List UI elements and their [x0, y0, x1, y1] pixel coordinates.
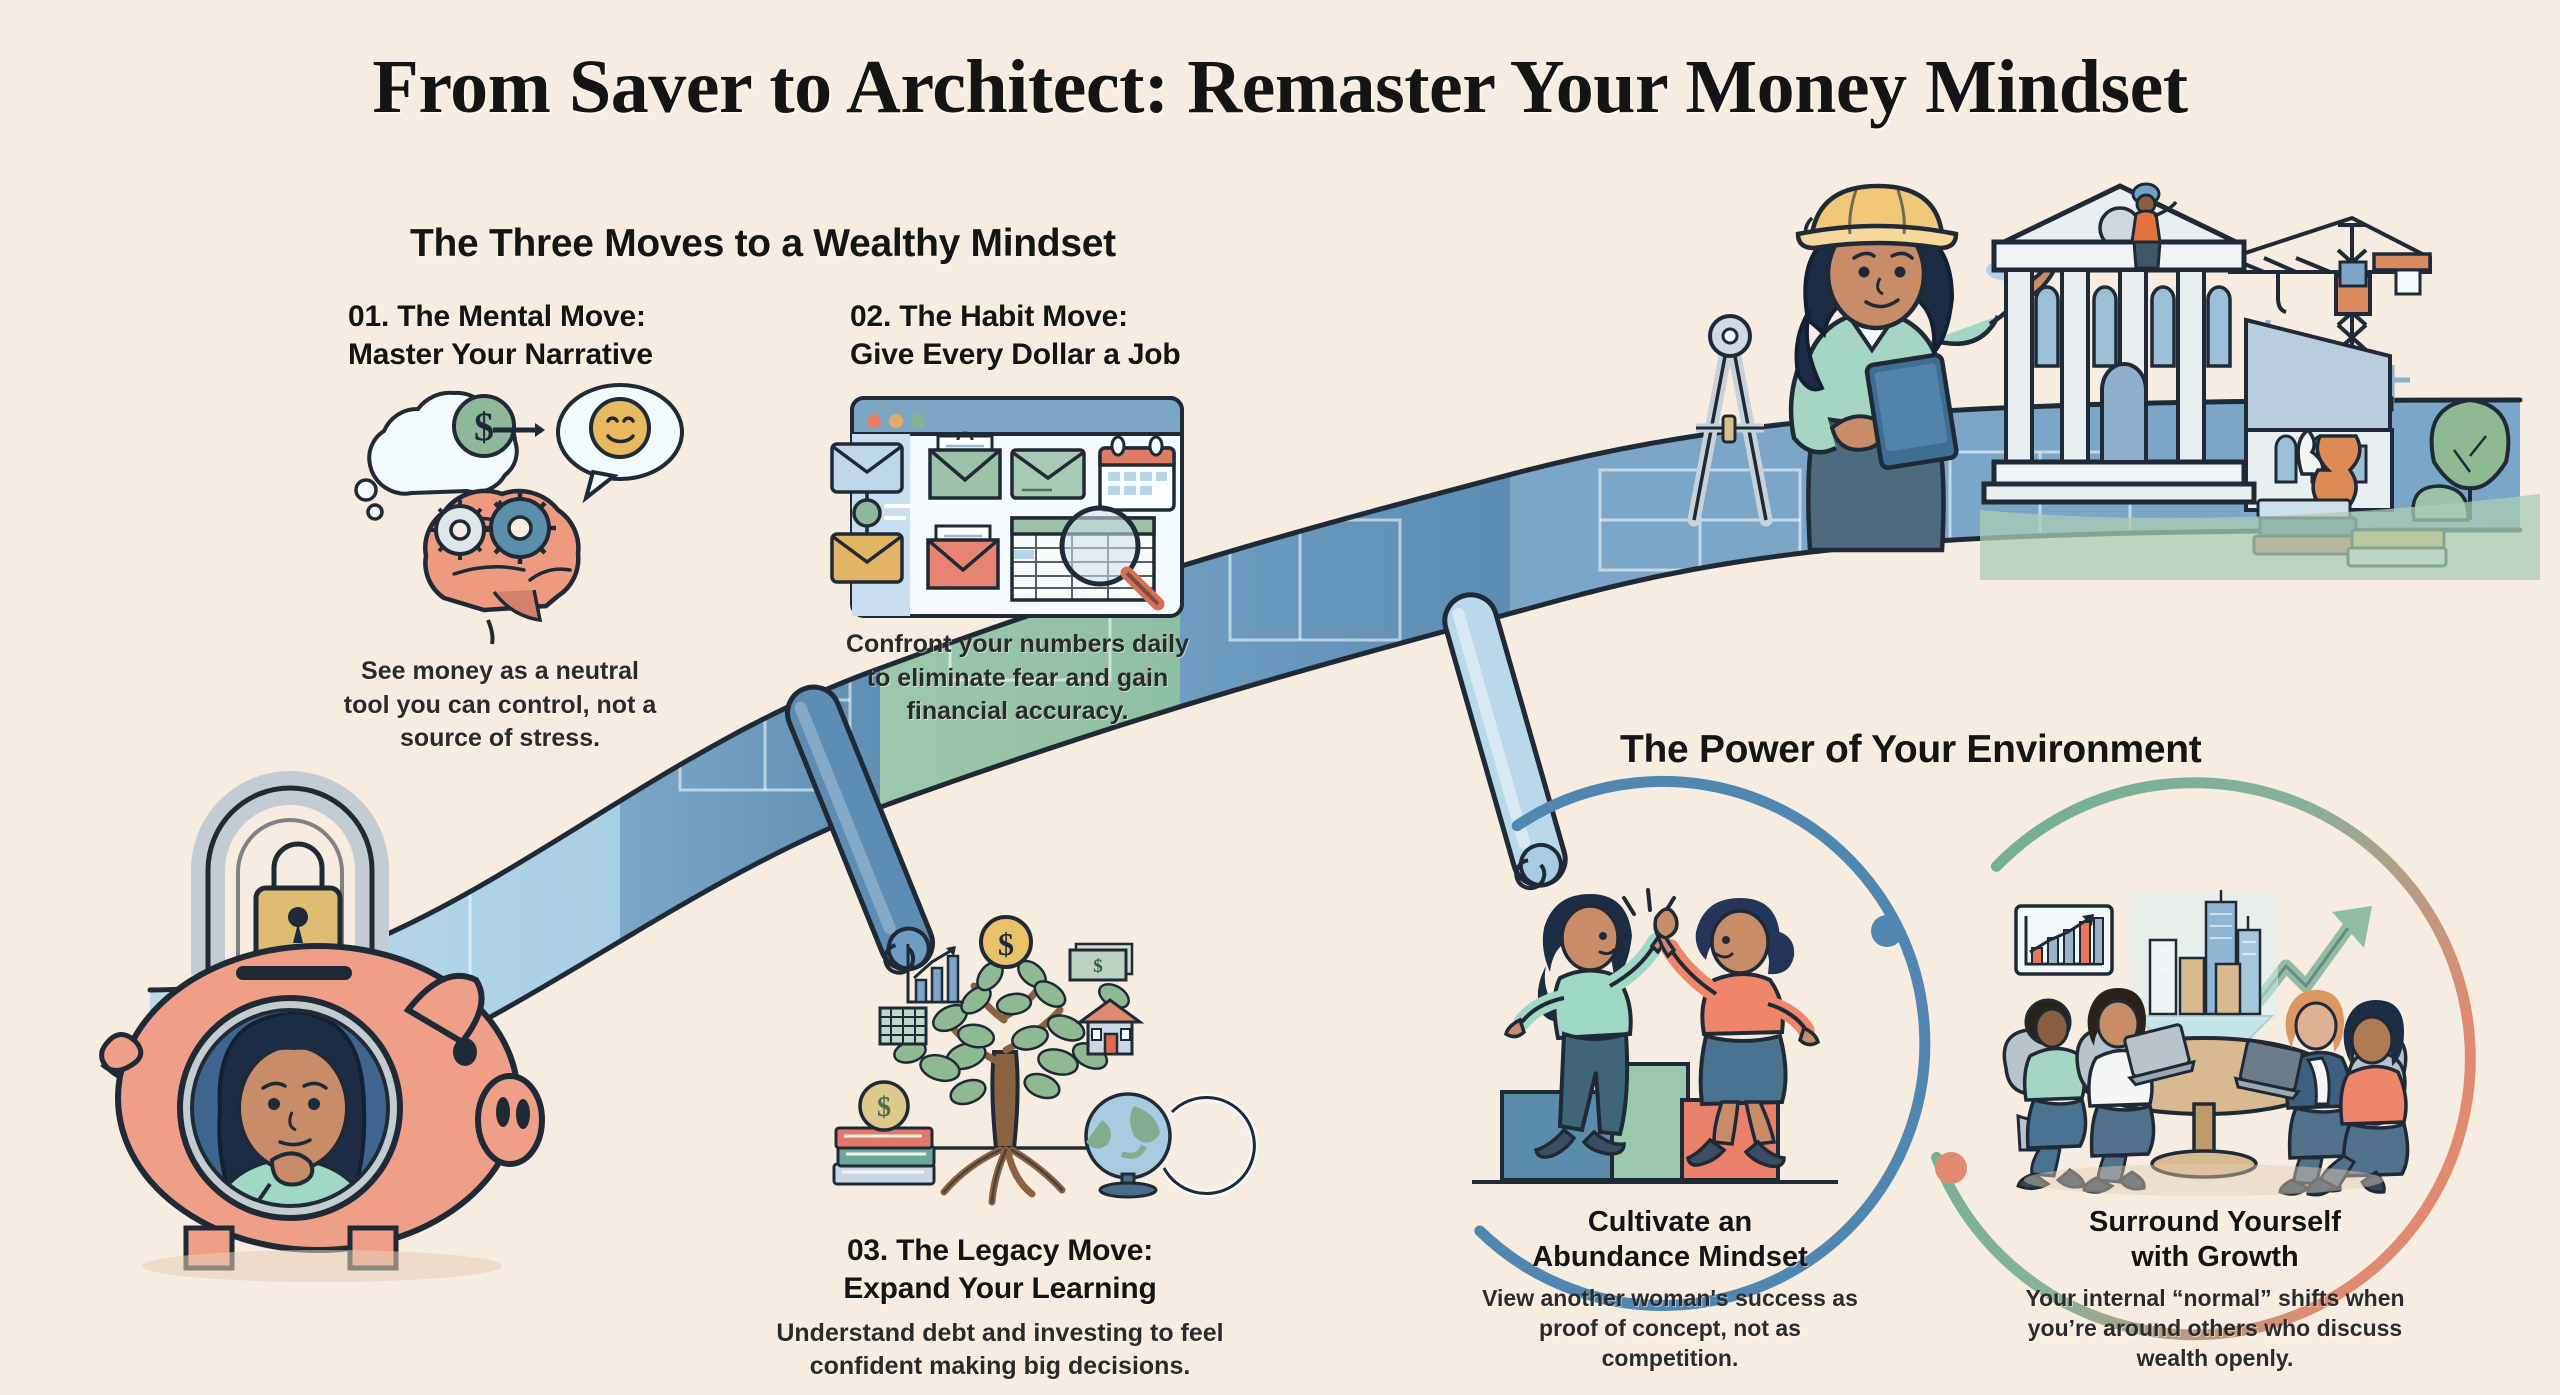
move-card-02: 02. The Habit Move: Give Every Dollar a … — [850, 298, 1230, 375]
move-card-01-body: See money as a neutral tool you can cont… — [335, 655, 665, 756]
circle-1-title-line1: Cultivate an — [1475, 1205, 1865, 1240]
svg-text:$: $ — [877, 1092, 891, 1123]
circle-2-body: Your internal “normal” shifts when you’r… — [2015, 1284, 2415, 1374]
budget-envelopes-icon — [800, 388, 1220, 628]
svg-text:$: $ — [1093, 956, 1103, 977]
move-card-01: 01. The Mental Move: Master Your Narrati… — [348, 298, 678, 375]
move-card-03: 03. The Legacy Move: Expand Your Learnin… — [760, 1232, 1240, 1384]
circle-2-title-line2: with Growth — [2015, 1240, 2415, 1275]
circle-1-body: View another woman's success as proof of… — [1475, 1284, 1865, 1374]
circle-2-title-line1: Surround Yourself — [2015, 1205, 2415, 1240]
infographic-canvas: From Saver to Architect: Remaster Your M… — [0, 0, 2560, 1395]
move-card-02-title: 02. The Habit Move: — [850, 298, 1230, 336]
move-card-01-subtitle: Master Your Narrative — [348, 336, 678, 374]
high-five-illustration — [1460, 870, 1860, 1200]
environment-section-heading: The Power of Your Environment — [1620, 728, 2201, 772]
money-tree-illustration: $ $ — [800, 900, 1210, 1230]
move-card-03-body: Understand debt and investing to feel co… — [760, 1317, 1240, 1384]
bank-skyline-illustration — [2000, 180, 2560, 600]
move-card-03-subtitle: Expand Your Learning — [760, 1270, 1240, 1308]
piggy-bank-illustration — [60, 760, 580, 1280]
svg-text:$: $ — [998, 926, 1014, 962]
move-card-01-title: 01. The Mental Move: — [348, 298, 678, 336]
boardroom-illustration — [2000, 868, 2410, 1198]
page-title: From Saver to Architect: Remaster Your M… — [0, 44, 2560, 131]
svg-text:$: $ — [474, 404, 494, 449]
circle-1-title-line2: Abundance Mindset — [1475, 1240, 1865, 1275]
move-card-03-title: 03. The Legacy Move: — [760, 1232, 1240, 1270]
move-card-02-body: Confront your numbers daily to eliminate… — [845, 628, 1190, 729]
moves-section-heading: The Three Moves to a Wealthy Mindset — [410, 222, 1116, 266]
brain-with-gears-icon: $ — [330, 380, 710, 630]
environment-circle-2-text: Surround Yourself with Growth Your inter… — [2015, 1205, 2415, 1373]
move-card-02-subtitle: Give Every Dollar a Job — [850, 336, 1230, 374]
environment-circle-1-text: Cultivate an Abundance Mindset View anot… — [1475, 1205, 1865, 1373]
